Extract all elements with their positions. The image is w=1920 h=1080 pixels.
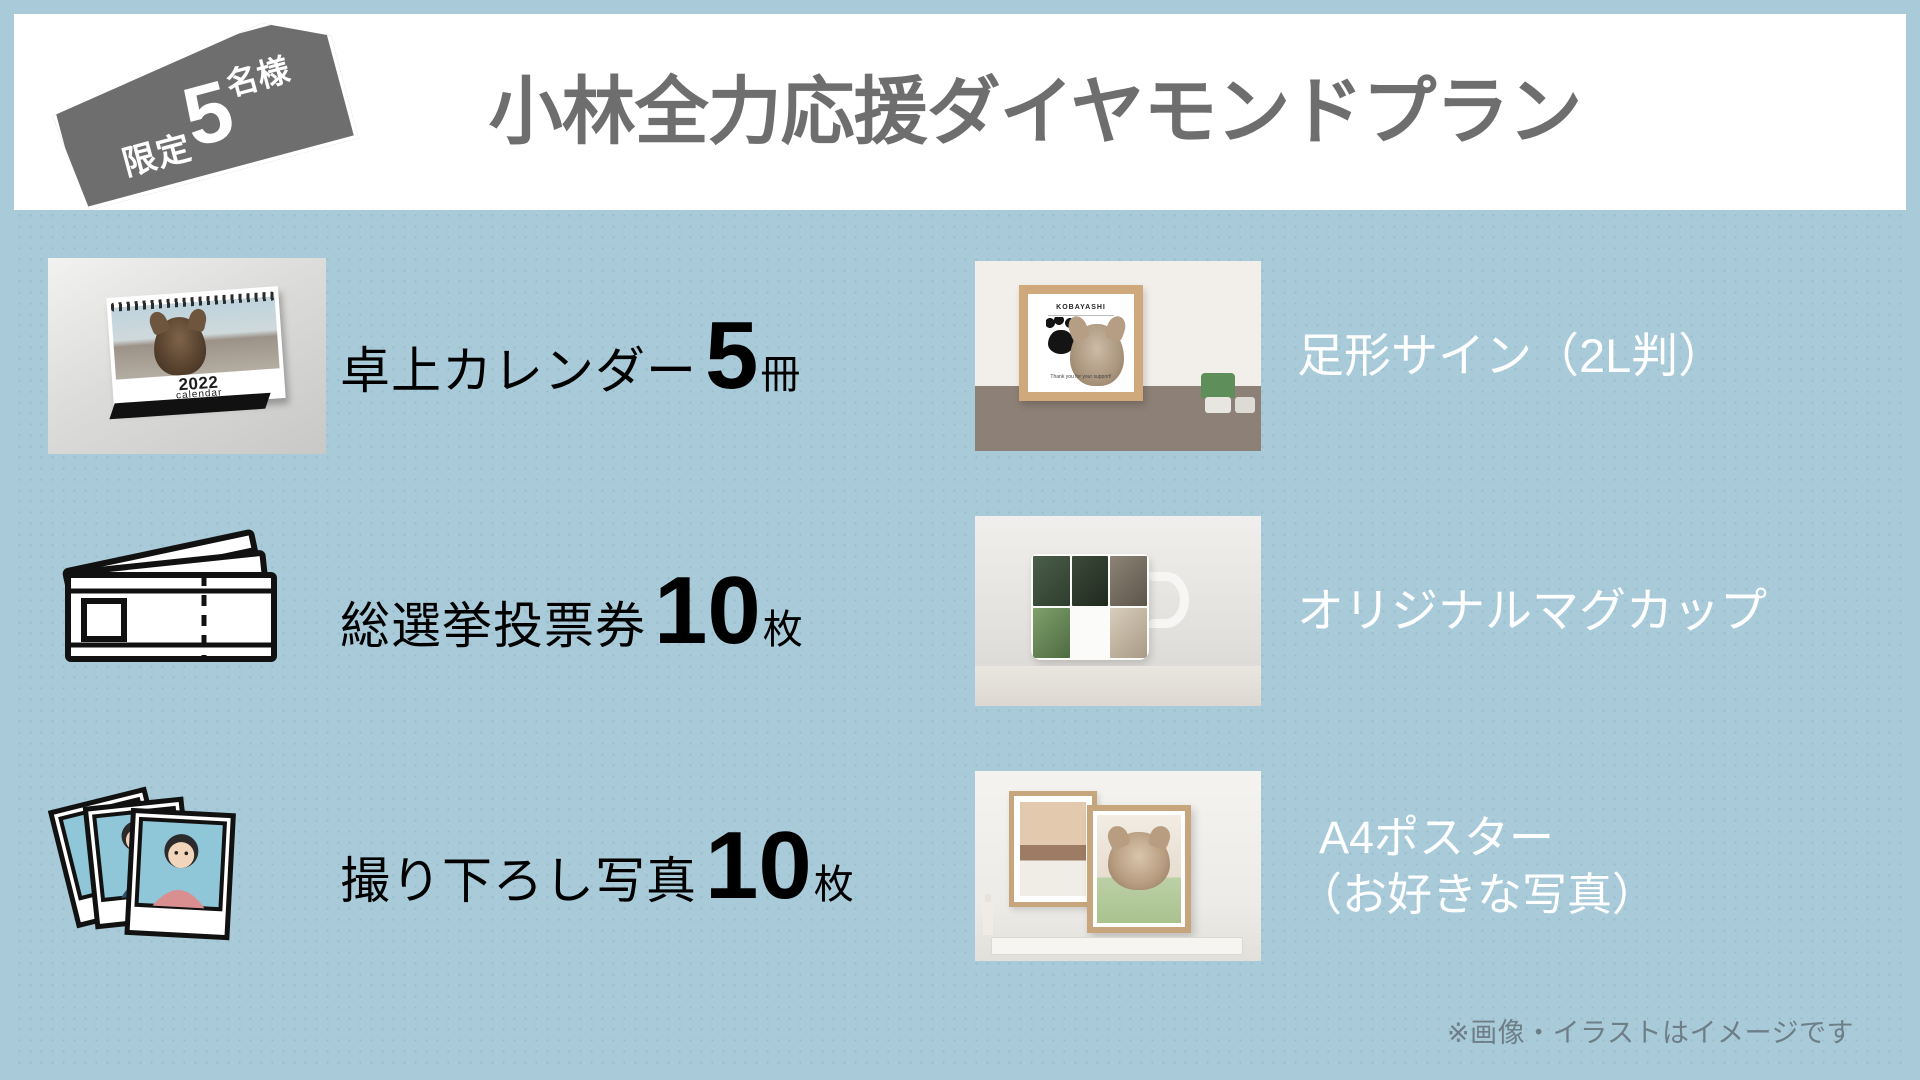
mug-handle bbox=[1143, 572, 1189, 628]
benefit-item-calendar: 2022 calendar 卓上カレンダー 5 冊 bbox=[48, 228, 955, 483]
collage-photo bbox=[1072, 556, 1109, 606]
dog-illustration bbox=[1108, 832, 1170, 890]
badge-prefix-label: 限定 bbox=[116, 120, 200, 199]
poster-header: 限定 5 名様 小林全力応援ダイヤモンドプラン bbox=[14, 14, 1906, 210]
benefit-label-voting-ticket: 総選挙投票券 bbox=[340, 586, 646, 658]
desk-calendar-photo: 2022 calendar bbox=[48, 258, 326, 454]
benefit-quantity-calendar: 5 bbox=[705, 308, 758, 404]
collage-photo bbox=[1033, 556, 1070, 606]
candle-decoration bbox=[983, 901, 993, 935]
mug-photo-collage bbox=[1031, 554, 1149, 660]
calendar-text-group: 卓上カレンダー 5 冊 bbox=[340, 308, 800, 404]
benefit-unit-calendar: 冊 bbox=[760, 342, 800, 400]
calendar-body: 2022 calendar bbox=[106, 286, 285, 410]
benefit-label-photos: 撮り下ろし写真 bbox=[340, 841, 697, 913]
framed-paw-print-photo: KOBAYASHI Thank you for your support! bbox=[975, 261, 1261, 451]
page-title: 小林全力応援ダイヤモンドプラン bbox=[339, 75, 1582, 149]
voting-ticket-text-group: 総選挙投票券 10 枚 bbox=[340, 563, 803, 659]
background-picture-frame bbox=[1009, 791, 1097, 907]
benefit-label-mug: オリジナルマグカップ bbox=[1297, 581, 1767, 641]
benefit-item-paw-sign: KOBAYASHI Thank you for your support! 足形… bbox=[965, 228, 1872, 483]
frame-thanks-label: Thank you for your support! bbox=[1028, 374, 1134, 380]
benefit-label-paw-sign: 足形サイン（2L判） bbox=[1297, 326, 1725, 386]
potted-plant-decoration bbox=[1201, 373, 1235, 413]
picture-frame: KOBAYASHI Thank you for your support! bbox=[1019, 285, 1143, 401]
disclaimer-footnote: ※画像・イラストはイメージです bbox=[1447, 1011, 1854, 1050]
benefit-item-a4-poster: A4ポスター （お好きな写真） bbox=[965, 739, 1872, 994]
a4-poster-label-line1: A4ポスター bbox=[1297, 809, 1657, 867]
benefit-label-calendar: 卓上カレンダー bbox=[340, 331, 697, 403]
promo-poster: 限定 5 名様 小林全力応援ダイヤモンドプラン bbox=[0, 0, 1920, 1080]
poster-inner-frame: 限定 5 名様 小林全力応援ダイヤモンドプラン bbox=[14, 14, 1906, 1066]
benefit-unit-photos: 枚 bbox=[814, 852, 854, 910]
benefit-quantity-photos: 10 bbox=[705, 818, 812, 914]
collage-photo bbox=[1033, 608, 1070, 658]
benefits-grid: 2022 calendar 卓上カレンダー 5 冊 bbox=[48, 228, 1872, 994]
benefit-item-photos: 撮り下ろし写真 10 枚 bbox=[48, 739, 955, 994]
mug-table-surface bbox=[975, 666, 1261, 706]
small-pot-decoration bbox=[1235, 397, 1255, 413]
limited-quantity-badge: 限定 5 名様 bbox=[43, 14, 358, 213]
benefit-unit-voting-ticket: 枚 bbox=[763, 597, 803, 655]
mug-body bbox=[1031, 554, 1149, 660]
benefit-label-a4-poster: A4ポスター （お好きな写真） bbox=[1297, 809, 1657, 924]
benefit-quantity-voting-ticket: 10 bbox=[654, 563, 761, 659]
dog-illustration bbox=[152, 315, 208, 376]
abstract-art-print bbox=[1020, 802, 1086, 896]
photos-text-group: 撮り下ろし写真 10 枚 bbox=[340, 818, 854, 914]
benefit-item-voting-ticket: 総選挙投票券 10 枚 bbox=[48, 483, 955, 738]
frame-divider-rule bbox=[1048, 315, 1114, 316]
a4-poster-frames-photo bbox=[975, 771, 1261, 961]
badge-text-group: 限定 5 名様 bbox=[43, 14, 358, 213]
badge-suffix-label: 名様 bbox=[217, 31, 294, 106]
dog-photo-print bbox=[1097, 815, 1181, 923]
book-decoration bbox=[991, 937, 1243, 955]
photo-mug-photo bbox=[975, 516, 1261, 706]
foreground-picture-frame bbox=[1087, 805, 1191, 933]
a4-poster-label-line2: （お好きな写真） bbox=[1297, 866, 1657, 924]
collage-photo bbox=[1110, 608, 1147, 658]
frame-name-label: KOBAYASHI bbox=[1028, 304, 1134, 311]
poster-body: 2022 calendar 卓上カレンダー 5 冊 bbox=[14, 210, 1906, 1066]
voting-ticket-illustration bbox=[48, 513, 326, 709]
polaroid-photos-illustration bbox=[48, 768, 326, 964]
benefit-item-mug: オリジナルマグカップ bbox=[965, 483, 1872, 738]
collage-photo bbox=[1110, 556, 1147, 606]
collage-photo bbox=[1072, 608, 1109, 658]
